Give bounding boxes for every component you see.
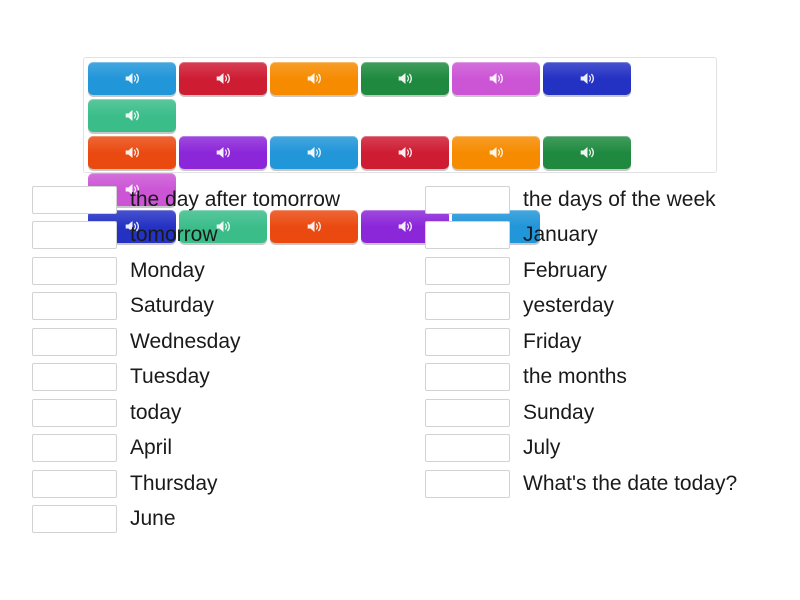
- answer-label: February: [523, 259, 607, 283]
- answer-row: tomorrow: [32, 218, 407, 254]
- audio-tile[interactable]: [270, 62, 358, 95]
- answer-row: the day after tomorrow: [32, 182, 407, 218]
- answer-dropbox[interactable]: [32, 292, 117, 320]
- audio-tile[interactable]: [452, 62, 540, 95]
- speaker-icon: [579, 71, 596, 86]
- speaker-icon: [306, 71, 323, 86]
- answer-label: January: [523, 223, 598, 247]
- answer-row: today: [32, 395, 407, 431]
- answer-row: Monday: [32, 253, 407, 289]
- speaker-icon: [215, 71, 232, 86]
- answer-label: Friday: [523, 330, 581, 354]
- answer-row: February: [425, 253, 800, 289]
- answer-dropbox[interactable]: [32, 186, 117, 214]
- answers-column-left: the day after tomorrowtomorrowMondaySatu…: [32, 182, 407, 537]
- answer-dropbox[interactable]: [32, 363, 117, 391]
- answer-label: Wednesday: [130, 330, 241, 354]
- answer-dropbox[interactable]: [425, 257, 510, 285]
- speaker-icon: [397, 145, 414, 160]
- audio-tile[interactable]: [88, 99, 176, 132]
- answer-row: Thursday: [32, 466, 407, 502]
- answer-label: Thursday: [130, 472, 218, 496]
- audio-tile[interactable]: [88, 136, 176, 169]
- answer-dropbox[interactable]: [32, 257, 117, 285]
- answer-dropbox[interactable]: [32, 328, 117, 356]
- answer-label: the day after tomorrow: [130, 188, 340, 212]
- answer-label: July: [523, 436, 560, 460]
- audio-tile[interactable]: [179, 62, 267, 95]
- answer-dropbox[interactable]: [425, 470, 510, 498]
- answer-label: June: [130, 507, 176, 531]
- audio-tile[interactable]: [543, 136, 631, 169]
- answer-row: June: [32, 502, 407, 538]
- audio-tile[interactable]: [452, 136, 540, 169]
- answer-dropbox[interactable]: [425, 221, 510, 249]
- speaker-icon: [579, 145, 596, 160]
- answer-label: today: [130, 401, 181, 425]
- answer-label: What's the date today?: [523, 472, 737, 496]
- speaker-icon: [488, 71, 505, 86]
- answer-dropbox[interactable]: [32, 434, 117, 462]
- answer-row: the months: [425, 360, 800, 396]
- answer-row: yesterday: [425, 289, 800, 325]
- speaker-icon: [124, 71, 141, 86]
- answer-label: the months: [523, 365, 627, 389]
- answer-row: Tuesday: [32, 360, 407, 396]
- answer-columns: the day after tomorrowtomorrowMondaySatu…: [0, 182, 800, 537]
- answer-row: What's the date today?: [425, 466, 800, 502]
- answer-label: tomorrow: [130, 223, 218, 247]
- answer-dropbox[interactable]: [32, 505, 117, 533]
- answer-row: January: [425, 218, 800, 254]
- audio-tile[interactable]: [179, 136, 267, 169]
- answer-label: April: [130, 436, 172, 460]
- answer-label: Saturday: [130, 294, 214, 318]
- answers-column-right: the days of the weekJanuaryFebruaryyeste…: [425, 182, 800, 537]
- audio-tile[interactable]: [88, 62, 176, 95]
- speaker-icon: [488, 145, 505, 160]
- audio-tile[interactable]: [361, 62, 449, 95]
- answer-dropbox[interactable]: [425, 399, 510, 427]
- answer-row: the days of the week: [425, 182, 800, 218]
- answer-dropbox[interactable]: [32, 221, 117, 249]
- answer-row: Wednesday: [32, 324, 407, 360]
- answer-dropbox[interactable]: [425, 363, 510, 391]
- answer-label: the days of the week: [523, 188, 716, 212]
- answer-label: yesterday: [523, 294, 614, 318]
- answer-row: Saturday: [32, 289, 407, 325]
- answer-dropbox[interactable]: [32, 399, 117, 427]
- audio-tile[interactable]: [270, 136, 358, 169]
- speaker-icon: [306, 145, 323, 160]
- answer-row: Friday: [425, 324, 800, 360]
- answer-dropbox[interactable]: [425, 434, 510, 462]
- answer-row: April: [32, 431, 407, 467]
- answer-label: Monday: [130, 259, 205, 283]
- speaker-icon: [397, 71, 414, 86]
- speaker-icon: [215, 145, 232, 160]
- answer-dropbox[interactable]: [425, 292, 510, 320]
- activity-stage: the day after tomorrowtomorrowMondaySatu…: [0, 0, 800, 600]
- speaker-icon: [124, 108, 141, 123]
- audio-tile[interactable]: [543, 62, 631, 95]
- audio-tile[interactable]: [361, 136, 449, 169]
- answer-label: Sunday: [523, 401, 594, 425]
- answer-row: Sunday: [425, 395, 800, 431]
- answer-dropbox[interactable]: [32, 470, 117, 498]
- answer-dropbox[interactable]: [425, 328, 510, 356]
- audio-tile-tray: [83, 57, 717, 173]
- answer-label: Tuesday: [130, 365, 210, 389]
- answer-dropbox[interactable]: [425, 186, 510, 214]
- speaker-icon: [124, 145, 141, 160]
- answer-row: July: [425, 431, 800, 467]
